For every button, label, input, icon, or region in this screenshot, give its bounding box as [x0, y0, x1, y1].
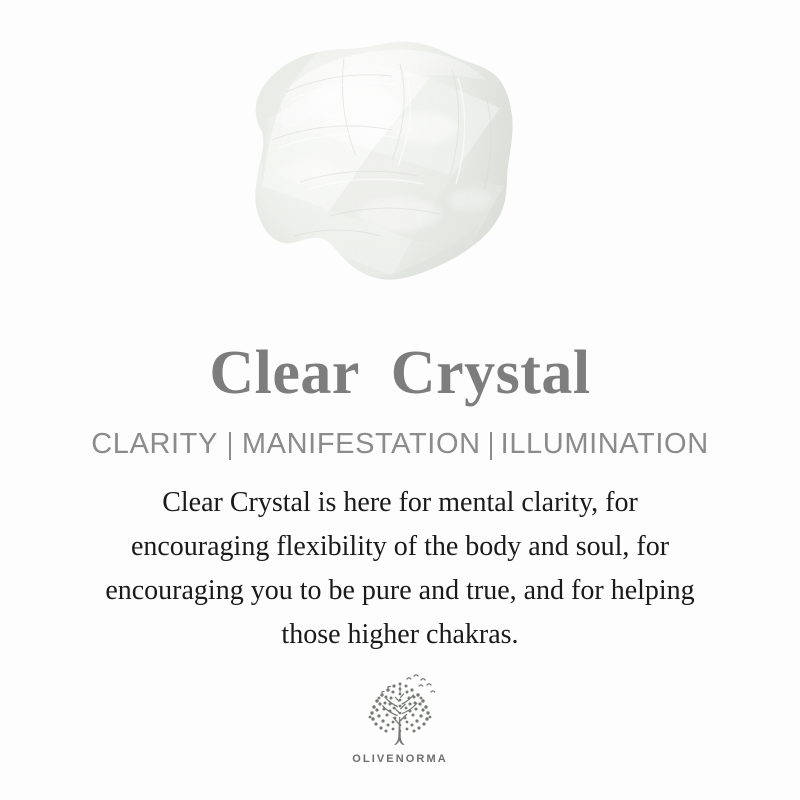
brand-name: OLIVENORMA [352, 753, 448, 765]
product-image-area [0, 0, 800, 318]
keyword-separator-1 [229, 432, 231, 460]
description-line: encouraging you to be pure and true, and… [40, 569, 760, 613]
keyword-illumination: ILLUMINATION [501, 430, 709, 459]
keyword-separator-2 [490, 432, 492, 460]
brand-logo: OLIVENORMA [352, 673, 448, 765]
olive-tree-with-birds-icon [357, 673, 443, 751]
clear-crystal-image [0, 0, 800, 318]
product-title: Clear Crystal [209, 342, 590, 404]
description-line: Clear Crystal is here for mental clarity… [40, 481, 760, 525]
keyword-clarity: CLARITY [91, 430, 218, 459]
product-info-card: Clear Crystal CLARITY MANIFESTATION ILLU… [0, 0, 800, 800]
product-keywords: CLARITY MANIFESTATION ILLUMINATION [91, 430, 708, 459]
product-description: Clear Crystal is here for mental clarity… [40, 481, 760, 657]
description-line: encouraging flexibility of the body and … [40, 525, 760, 569]
description-line: those higher chakras. [40, 613, 760, 657]
crystal-stone-shape [240, 30, 540, 300]
keyword-manifestation: MANIFESTATION [242, 430, 481, 459]
